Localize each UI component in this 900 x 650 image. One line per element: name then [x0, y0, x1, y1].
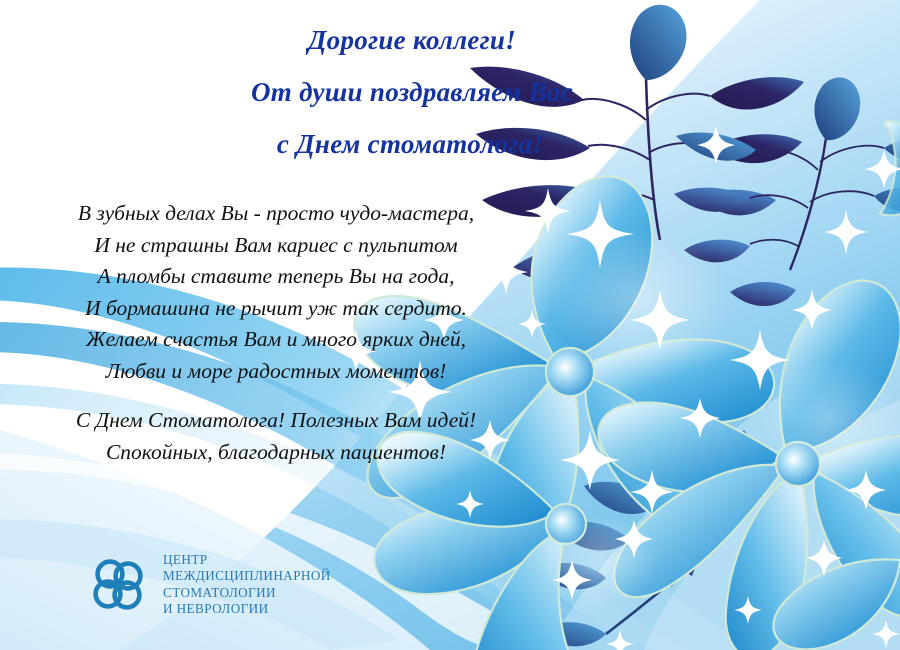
logo-line-4: И НЕВРОЛОГИИ: [163, 601, 331, 617]
poem-body: В зубных делах Вы - просто чудо-мастера,…: [36, 198, 516, 468]
poem-line: В зубных делах Вы - просто чудо-мастера,: [36, 198, 516, 230]
company-logo: ЦЕНТР МЕЖДИСЦИПЛИНАРНОЙ СТОМАТОЛОГИИ И Н…: [88, 552, 331, 618]
logo-wordmark: ЦЕНТР МЕЖДИСЦИПЛИНАРНОЙ СТОМАТОЛОГИИ И Н…: [163, 552, 331, 618]
poem-line: Спокойных, благодарных пациентов!: [36, 437, 516, 469]
logo-line-1: ЦЕНТР: [163, 552, 331, 568]
logo-line-2: МЕЖДИСЦИПЛИНАРНОЙ: [163, 568, 331, 584]
poem-line: Желаем счастья Вам и много ярких дней,: [36, 324, 516, 356]
stanza-gap: [36, 387, 516, 405]
four-circle-rosette-icon: [88, 554, 150, 616]
logo-line-3: СТОМАТОЛОГИИ: [163, 585, 331, 601]
poem-line: Любви и море радостных моментов!: [36, 356, 516, 388]
heading-line-3: с Днем стоматолога!: [120, 118, 700, 170]
poem-line: А пломбы ставите теперь Вы на года,: [36, 261, 516, 293]
poem-line: И бормашина не рычит уж так сердито.: [36, 293, 516, 325]
heading-line-1: Дорогие коллеги!: [120, 14, 700, 66]
poem-line: И не страшны Вам кариес с пульпитом: [36, 230, 516, 262]
heading-line-2: От души поздравляем Вас: [120, 66, 700, 118]
poem-line: С Днем Стоматолога! Полезных Вам идей!: [36, 405, 516, 437]
greeting-card: Дорогие коллеги! От души поздравляем Вас…: [0, 0, 900, 650]
card-heading: Дорогие коллеги! От души поздравляем Вас…: [120, 14, 700, 170]
